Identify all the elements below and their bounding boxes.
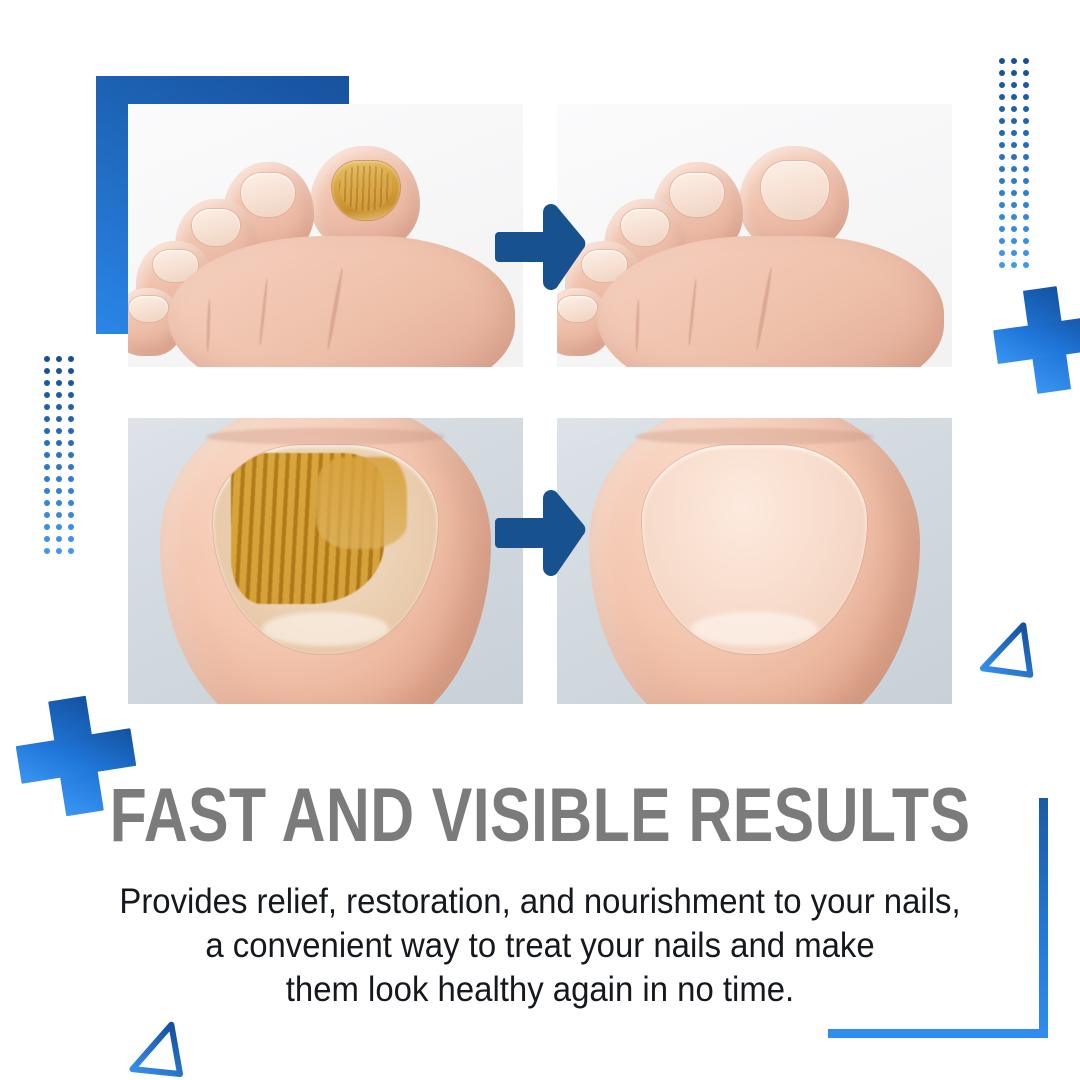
dot bbox=[999, 106, 1005, 112]
dot bbox=[44, 464, 50, 470]
plus-cross-right bbox=[988, 281, 1080, 398]
dot bbox=[999, 142, 1005, 148]
dot bbox=[44, 548, 50, 554]
dot bbox=[68, 464, 74, 470]
dot bbox=[1011, 166, 1017, 172]
photo-after-foot bbox=[557, 104, 952, 367]
dot bbox=[68, 428, 74, 434]
arrow-right-icon bbox=[495, 490, 587, 576]
photo-before-foot bbox=[128, 104, 523, 367]
dot bbox=[999, 250, 1005, 256]
dot bbox=[56, 500, 62, 506]
dot bbox=[999, 214, 1005, 220]
dot bbox=[68, 488, 74, 494]
dot bbox=[68, 356, 74, 362]
dot bbox=[1011, 238, 1017, 244]
toenail-second bbox=[241, 173, 296, 217]
dot bbox=[56, 380, 62, 386]
dot bbox=[999, 190, 1005, 196]
dot bbox=[1011, 106, 1017, 112]
dot bbox=[44, 536, 50, 542]
dot bbox=[1023, 238, 1029, 244]
dot bbox=[68, 392, 74, 398]
arrow-right-icon bbox=[495, 204, 587, 290]
dot bbox=[68, 380, 74, 386]
dot bbox=[1023, 178, 1029, 184]
dot bbox=[44, 512, 50, 518]
triangle-shape bbox=[126, 1025, 180, 1080]
dot bbox=[1011, 178, 1017, 184]
dot bbox=[1023, 118, 1029, 124]
toenail-big-healthy bbox=[761, 161, 830, 220]
dot bbox=[1023, 250, 1029, 256]
dot bbox=[56, 548, 62, 554]
dot bbox=[44, 476, 50, 482]
dot bbox=[44, 428, 50, 434]
triangle-outline-right bbox=[971, 618, 1041, 688]
dot bbox=[44, 356, 50, 362]
toenail-fifth bbox=[129, 296, 167, 322]
dot bbox=[999, 130, 1005, 136]
toenail-closeup-healthy bbox=[642, 445, 868, 654]
dot bbox=[68, 440, 74, 446]
dot bbox=[68, 368, 74, 374]
dot bbox=[68, 524, 74, 530]
toenail-fifth bbox=[558, 296, 596, 322]
bracket-horizontal-bar bbox=[828, 1029, 1048, 1038]
dot bbox=[44, 488, 50, 494]
dot bbox=[1023, 202, 1029, 208]
foot-illustration bbox=[128, 104, 523, 367]
photo-backdrop bbox=[557, 418, 952, 704]
dot bbox=[1023, 262, 1029, 268]
corner-bracket-bottom-right bbox=[828, 798, 1048, 1038]
dot bbox=[68, 404, 74, 410]
dot bbox=[999, 262, 1005, 268]
nail-lunula bbox=[691, 612, 817, 645]
dot bbox=[1011, 250, 1017, 256]
dot bbox=[56, 488, 62, 494]
dot bbox=[68, 416, 74, 422]
dot bbox=[1011, 154, 1017, 160]
dot bbox=[999, 118, 1005, 124]
triangle-outline-bottom-left bbox=[119, 1017, 191, 1080]
dot bbox=[44, 404, 50, 410]
dot bbox=[1023, 154, 1029, 160]
dot bbox=[1011, 94, 1017, 100]
dot bbox=[1011, 82, 1017, 88]
photo-before-toenail-closeup bbox=[128, 418, 523, 704]
dot bbox=[44, 392, 50, 398]
dot bbox=[56, 476, 62, 482]
dot bbox=[1023, 226, 1029, 232]
dot bbox=[1011, 142, 1017, 148]
dot bbox=[999, 166, 1005, 172]
dot bbox=[56, 524, 62, 530]
dot bbox=[999, 82, 1005, 88]
dot bbox=[56, 452, 62, 458]
dot-grid-top-right bbox=[999, 58, 1035, 274]
dot bbox=[999, 226, 1005, 232]
dot bbox=[56, 356, 62, 362]
cuticle bbox=[635, 428, 874, 445]
dot bbox=[44, 368, 50, 374]
comparison-grid bbox=[128, 104, 952, 704]
dot bbox=[56, 404, 62, 410]
dot bbox=[1011, 190, 1017, 196]
dot bbox=[56, 440, 62, 446]
dot bbox=[68, 512, 74, 518]
dot bbox=[1023, 94, 1029, 100]
dot bbox=[44, 452, 50, 458]
toenail-third bbox=[192, 209, 240, 245]
toenail-closeup-diseased bbox=[213, 445, 439, 654]
dot bbox=[1011, 118, 1017, 124]
photo-backdrop bbox=[557, 104, 952, 367]
photo-after-toenail-closeup bbox=[557, 418, 952, 704]
photo-backdrop bbox=[128, 418, 523, 704]
cuticle bbox=[206, 428, 445, 445]
dot bbox=[1011, 226, 1017, 232]
dot bbox=[999, 178, 1005, 184]
dot bbox=[56, 416, 62, 422]
dot bbox=[999, 58, 1005, 64]
dot bbox=[1011, 58, 1017, 64]
dot bbox=[1023, 166, 1029, 172]
dot bbox=[68, 548, 74, 554]
toenail-second bbox=[670, 173, 725, 217]
dot bbox=[56, 512, 62, 518]
dot bbox=[1011, 70, 1017, 76]
dot bbox=[1023, 190, 1029, 196]
dot-grid-left bbox=[44, 356, 80, 560]
foot-illustration bbox=[557, 104, 952, 367]
dot bbox=[1023, 142, 1029, 148]
dot bbox=[1023, 106, 1029, 112]
promo-poster: FAST AND VISIBLE RESULTS Provides relief… bbox=[0, 0, 1080, 1080]
dot bbox=[1011, 202, 1017, 208]
toenail-third bbox=[621, 209, 669, 245]
dot bbox=[999, 154, 1005, 160]
dot bbox=[44, 500, 50, 506]
fungus-discoloration-secondary bbox=[316, 457, 406, 549]
dot bbox=[68, 452, 74, 458]
dot bbox=[1023, 130, 1029, 136]
dot bbox=[999, 202, 1005, 208]
dot bbox=[1023, 82, 1029, 88]
dot bbox=[56, 392, 62, 398]
triangle-shape bbox=[978, 625, 1031, 681]
dot bbox=[68, 476, 74, 482]
dot bbox=[68, 536, 74, 542]
arrow-shape bbox=[495, 204, 585, 290]
dot bbox=[68, 500, 74, 506]
big-toe-closeup bbox=[589, 418, 921, 704]
photo-backdrop bbox=[128, 104, 523, 367]
dot bbox=[999, 238, 1005, 244]
nail-lunula bbox=[262, 612, 388, 645]
bracket-vertical-bar bbox=[1039, 798, 1048, 1038]
dot bbox=[1023, 70, 1029, 76]
arrow-shape bbox=[495, 490, 585, 576]
dot bbox=[56, 428, 62, 434]
dot bbox=[44, 380, 50, 386]
dot bbox=[1011, 214, 1017, 220]
dot bbox=[1023, 58, 1029, 64]
dot bbox=[999, 94, 1005, 100]
dot bbox=[56, 536, 62, 542]
dot bbox=[56, 368, 62, 374]
dot bbox=[44, 524, 50, 530]
big-toe-closeup bbox=[160, 418, 492, 704]
dot bbox=[1023, 214, 1029, 220]
dot bbox=[1011, 130, 1017, 136]
dot bbox=[56, 464, 62, 470]
toenail-big-diseased bbox=[332, 161, 401, 220]
dot bbox=[999, 70, 1005, 76]
dot bbox=[44, 440, 50, 446]
dot bbox=[44, 416, 50, 422]
dot bbox=[1011, 262, 1017, 268]
